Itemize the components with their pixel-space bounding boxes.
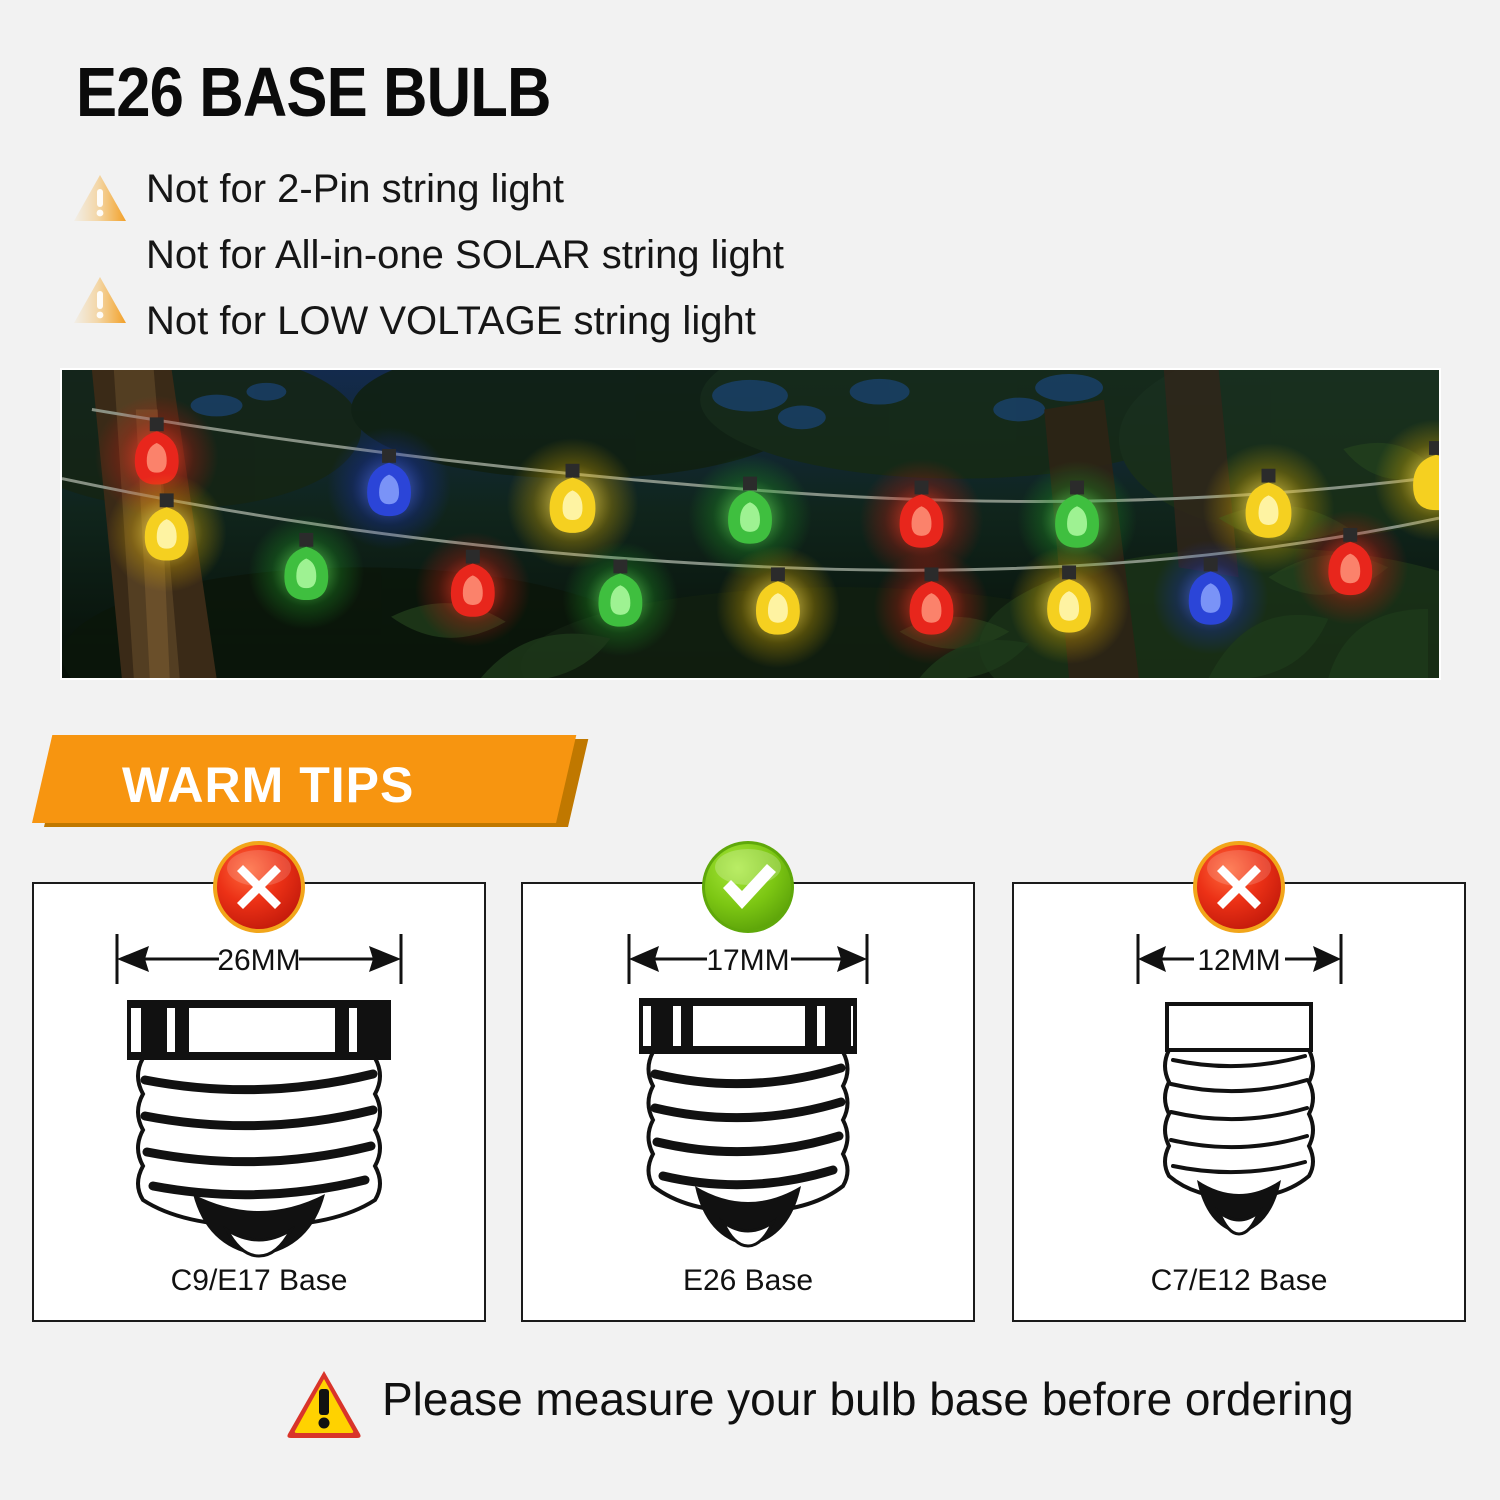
exclamation-triangle-icon	[285, 1368, 363, 1440]
panel-caption: E26 Base	[523, 1264, 973, 1298]
dimension-line-12mm: 12MM	[1014, 928, 1464, 992]
check-badge-icon	[701, 840, 795, 934]
bulb-base-drawing-c7e12	[1014, 994, 1464, 1264]
dimension-line-17mm: 17MM	[523, 928, 973, 992]
base-comparison-panels: 26MM	[0, 882, 1500, 1324]
cross-badge-icon	[212, 840, 306, 934]
warning-text: Not for 2-Pin string light	[146, 167, 564, 212]
bulb-base-drawing-e26	[523, 994, 973, 1264]
panel-caption: C7/E12 Base	[1014, 1264, 1464, 1298]
panel-e26[interactable]: 17MM	[521, 882, 975, 1322]
cross-badge-icon	[1192, 840, 1286, 934]
bulb-base-drawing-c9e17	[34, 994, 484, 1264]
dimension-value: 12MM	[1197, 944, 1280, 977]
page-title: E26 BASE BULB	[76, 52, 551, 132]
footer-note: Please measure your bulb base before ord…	[0, 1360, 1500, 1460]
panel-caption: C9/E17 Base	[34, 1264, 484, 1298]
list-item: Not for LOW VOLTAGE string light	[68, 297, 1068, 363]
list-item: Not for 2-Pin string light	[68, 165, 1068, 231]
dimension-line-26mm: 26MM	[34, 928, 484, 992]
warnings-list: Not for 2-Pin string light Not for All-i…	[68, 165, 1068, 363]
dimension-value: 26MM	[217, 944, 300, 977]
list-item: Not for All-in-one SOLAR string light	[68, 231, 1068, 297]
product-lifestyle-photo	[60, 368, 1441, 680]
panel-c7-e12[interactable]: 12MM C7/E12 Base	[1012, 882, 1466, 1322]
footer-text: Please measure your bulb base before ord…	[382, 1372, 1354, 1426]
warning-text: Not for LOW VOLTAGE string light	[146, 299, 756, 344]
warning-text: Not for All-in-one SOLAR string light	[146, 233, 784, 278]
dimension-value: 17MM	[706, 944, 789, 977]
warm-tips-label: WARM TIPS	[122, 756, 414, 814]
warning-triangle-icon	[70, 171, 130, 225]
panel-c9-e17[interactable]: 26MM	[32, 882, 486, 1322]
